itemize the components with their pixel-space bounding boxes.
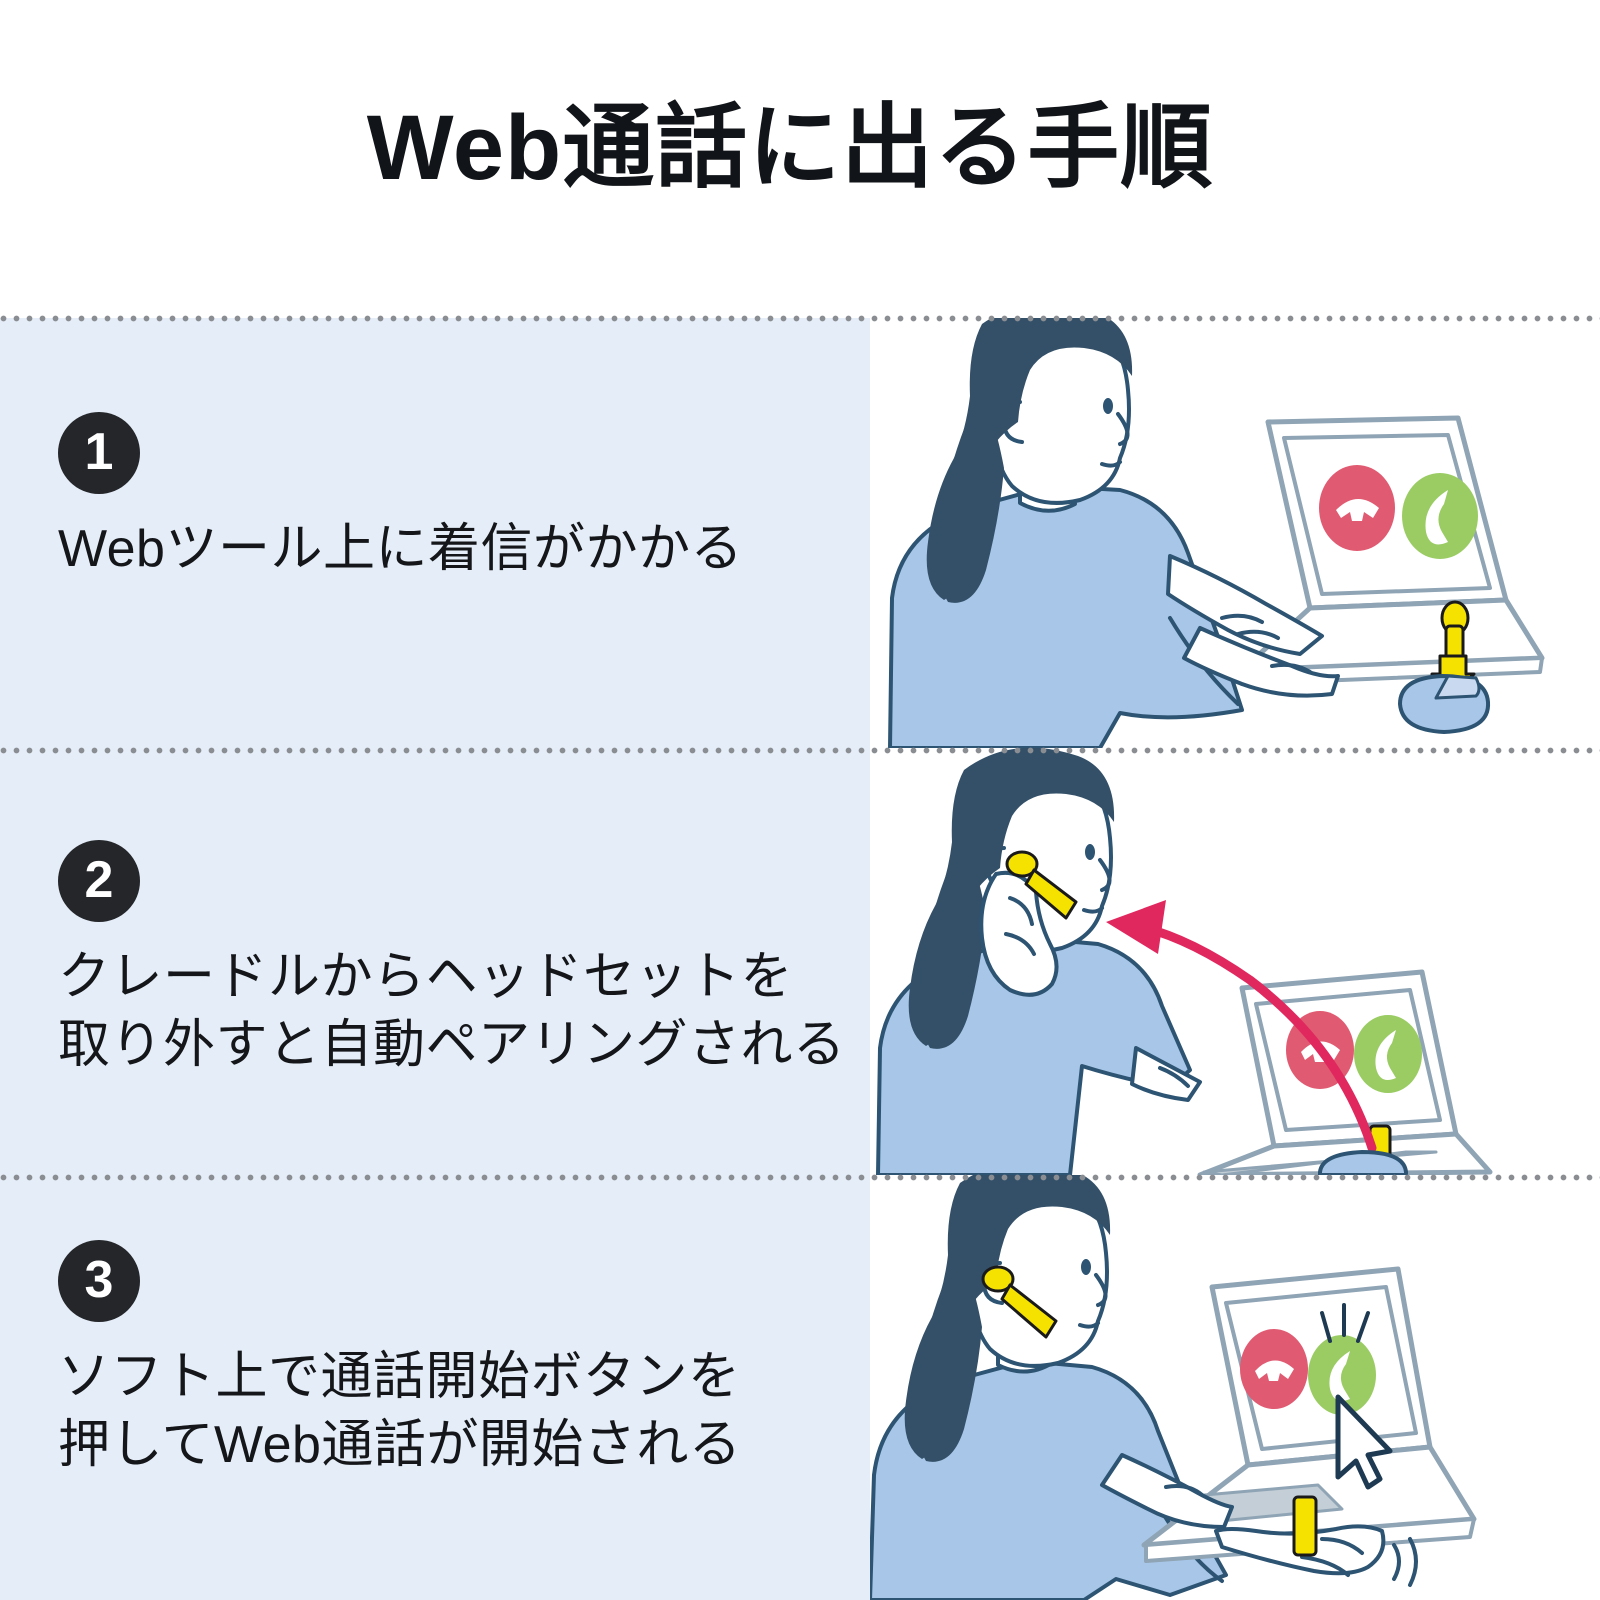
accept-call-button bbox=[1402, 473, 1478, 559]
step-2: 2 クレードルからヘッドセットを 取り外すと自動ペアリングされる bbox=[58, 840, 858, 1079]
accept-call-button bbox=[1354, 1015, 1422, 1093]
step-1-description: Webツール上に着信がかかる bbox=[58, 516, 858, 584]
step-2-description: クレードルからヘッドセットを 取り外すと自動ペアリングされる bbox=[58, 944, 858, 1079]
infographic-page: Web通話に出る手順 1 Webツール上に着信がかかる bbox=[0, 0, 1600, 1600]
illustration-step-3 bbox=[870, 1175, 1600, 1600]
page-title: Web通話に出る手順 bbox=[0, 96, 1580, 202]
step-1-number-badge: 1 bbox=[58, 412, 140, 494]
divider-top bbox=[0, 315, 1600, 322]
step-3-description: ソフト上で通話開始ボタンを 押してWeb通話が開始される bbox=[58, 1344, 858, 1479]
step-3: 3 ソフト上で通話開始ボタンを 押してWeb通話が開始される bbox=[58, 1240, 858, 1479]
divider-step-1-2 bbox=[0, 747, 1600, 754]
illustration-step-1 bbox=[870, 318, 1600, 748]
computer-mouse bbox=[1320, 1152, 1406, 1175]
illustration-step-2 bbox=[870, 748, 1600, 1175]
motion-lines bbox=[1394, 1539, 1416, 1585]
step-1: 1 Webツール上に着信がかかる bbox=[58, 412, 858, 584]
headset-cradle bbox=[1294, 1497, 1316, 1555]
step-3-number-badge: 3 bbox=[58, 1240, 140, 1322]
step-2-number-badge: 2 bbox=[58, 840, 140, 922]
computer-mouse bbox=[1400, 676, 1488, 732]
divider-step-2-3 bbox=[0, 1174, 1600, 1181]
